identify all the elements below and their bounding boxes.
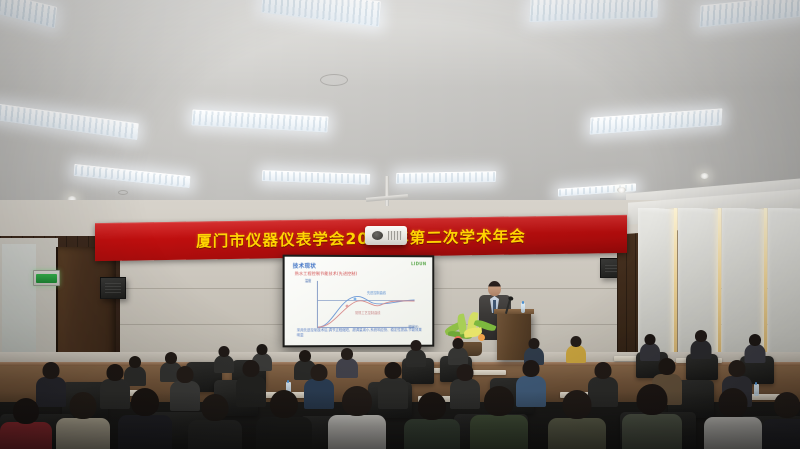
chart-annotation-upper: 先进控制曲线 — [367, 290, 386, 295]
person-head — [418, 392, 446, 420]
person-torso — [256, 417, 312, 449]
person-head — [257, 344, 268, 355]
audience-member — [118, 388, 172, 449]
audience-member — [448, 338, 468, 364]
projection-screen-frame: 技术现状 热水工程控制节能技术(先进控制) LIDUN 温度 时间(t) 先进控… — [283, 255, 435, 348]
projector-lens-icon — [372, 231, 383, 240]
person-head — [484, 386, 514, 416]
slide-logo: LIDUN — [411, 261, 426, 266]
person-head — [529, 338, 540, 349]
person-torso — [704, 417, 762, 449]
audience-member — [640, 334, 660, 360]
person-torso — [336, 358, 358, 378]
person-head — [453, 338, 464, 349]
audience-member — [328, 386, 386, 449]
chart-annotation-lower: 常规工艺控制曲线 — [355, 310, 380, 315]
person-torso — [214, 355, 234, 373]
water-bottle — [521, 303, 525, 313]
person-head — [311, 364, 328, 381]
audience-member — [336, 348, 358, 376]
person-torso — [406, 349, 426, 367]
person-head — [385, 362, 402, 379]
audience-member — [188, 394, 242, 449]
person-head — [659, 358, 676, 375]
chart-ylabel: 温度 — [305, 278, 311, 283]
audience-member — [762, 392, 800, 449]
audience-member — [56, 392, 110, 449]
person-head — [70, 392, 97, 419]
person-head — [165, 352, 177, 364]
person-torso — [470, 415, 528, 449]
wall-speaker-left — [100, 277, 126, 299]
audience-member — [470, 386, 528, 449]
projection-screen: 技术现状 热水工程控制节能技术(先进控制) LIDUN 温度 时间(t) 先进控… — [285, 257, 433, 346]
slide-chart: 温度 时间(t) 先进控制曲线 常规工艺控制曲线 — [303, 279, 421, 331]
person-head — [202, 394, 229, 421]
ceiling-smoke-detector — [118, 190, 128, 195]
person-head — [411, 340, 422, 351]
audience-member — [404, 392, 460, 449]
audience-member — [744, 334, 765, 362]
ceiling-light-panel — [396, 171, 497, 184]
person-head — [342, 386, 372, 416]
projector-vent — [388, 231, 402, 240]
person-head — [645, 334, 656, 345]
chart-curves — [303, 279, 421, 331]
person-head — [243, 360, 260, 377]
audience-member — [214, 346, 234, 372]
exit-sign-glow — [36, 274, 57, 283]
person-head — [219, 346, 230, 357]
exit-sign — [33, 270, 60, 286]
audience-member — [566, 336, 586, 362]
person-head — [571, 336, 582, 347]
ceiling-downlight — [700, 173, 709, 179]
slide-title: 技术现状 — [293, 262, 316, 270]
ceiling-downlight — [617, 187, 626, 193]
person-torso — [118, 415, 172, 449]
projector-mount-pole — [385, 176, 389, 206]
podium-top — [494, 309, 534, 314]
person-head — [749, 334, 761, 346]
person-head — [129, 356, 141, 368]
person-head — [270, 390, 298, 418]
audience-member — [690, 330, 711, 358]
person-torso — [56, 418, 110, 449]
banner-text: 厦门市仪器仪表学会2015年第二次学术年会 — [196, 224, 526, 251]
presenter-head — [488, 281, 501, 296]
person-torso — [404, 419, 460, 449]
audience-member — [256, 390, 312, 449]
person-torso — [448, 347, 468, 365]
person-torso — [762, 419, 800, 449]
audience-member — [406, 340, 426, 366]
person-torso — [566, 345, 586, 363]
person-head — [729, 360, 746, 377]
ceiling-projector — [365, 226, 407, 245]
person-head — [13, 398, 39, 424]
audience-member — [0, 398, 52, 449]
flower-blossom — [478, 334, 485, 341]
person-torso — [548, 418, 606, 449]
person-head — [523, 360, 540, 377]
slide-footer: 采用先进控制技术后,调节过程缩短、超调量减小,系统响应快、稳定性提高,节能效果明… — [297, 328, 423, 338]
person-head — [695, 330, 707, 342]
conference-hall-photo: 厦门市仪器仪表学会2015年第二次学术年会 技术现状 热水工程控制节能技术(先进… — [0, 0, 800, 449]
person-torso — [0, 422, 52, 449]
person-head — [341, 348, 353, 360]
person-head — [177, 366, 194, 383]
person-torso — [188, 420, 242, 449]
slide-subtitle: 热水工程控制节能技术(先进控制) — [295, 271, 358, 277]
ceiling-air-vent — [320, 74, 348, 86]
person-head — [107, 364, 124, 381]
person-head — [595, 362, 612, 379]
person-torso — [690, 340, 711, 359]
person-head — [774, 392, 800, 418]
person-torso — [622, 414, 682, 449]
person-head — [719, 388, 748, 417]
person-head — [299, 350, 311, 362]
person-head — [457, 364, 474, 381]
person-head — [563, 390, 592, 419]
person-head — [43, 362, 60, 379]
person-head — [131, 388, 159, 416]
audience-member — [548, 390, 606, 449]
person-torso — [328, 415, 386, 449]
audience-member — [704, 388, 762, 449]
audience-member — [622, 384, 682, 449]
person-head — [637, 384, 668, 415]
